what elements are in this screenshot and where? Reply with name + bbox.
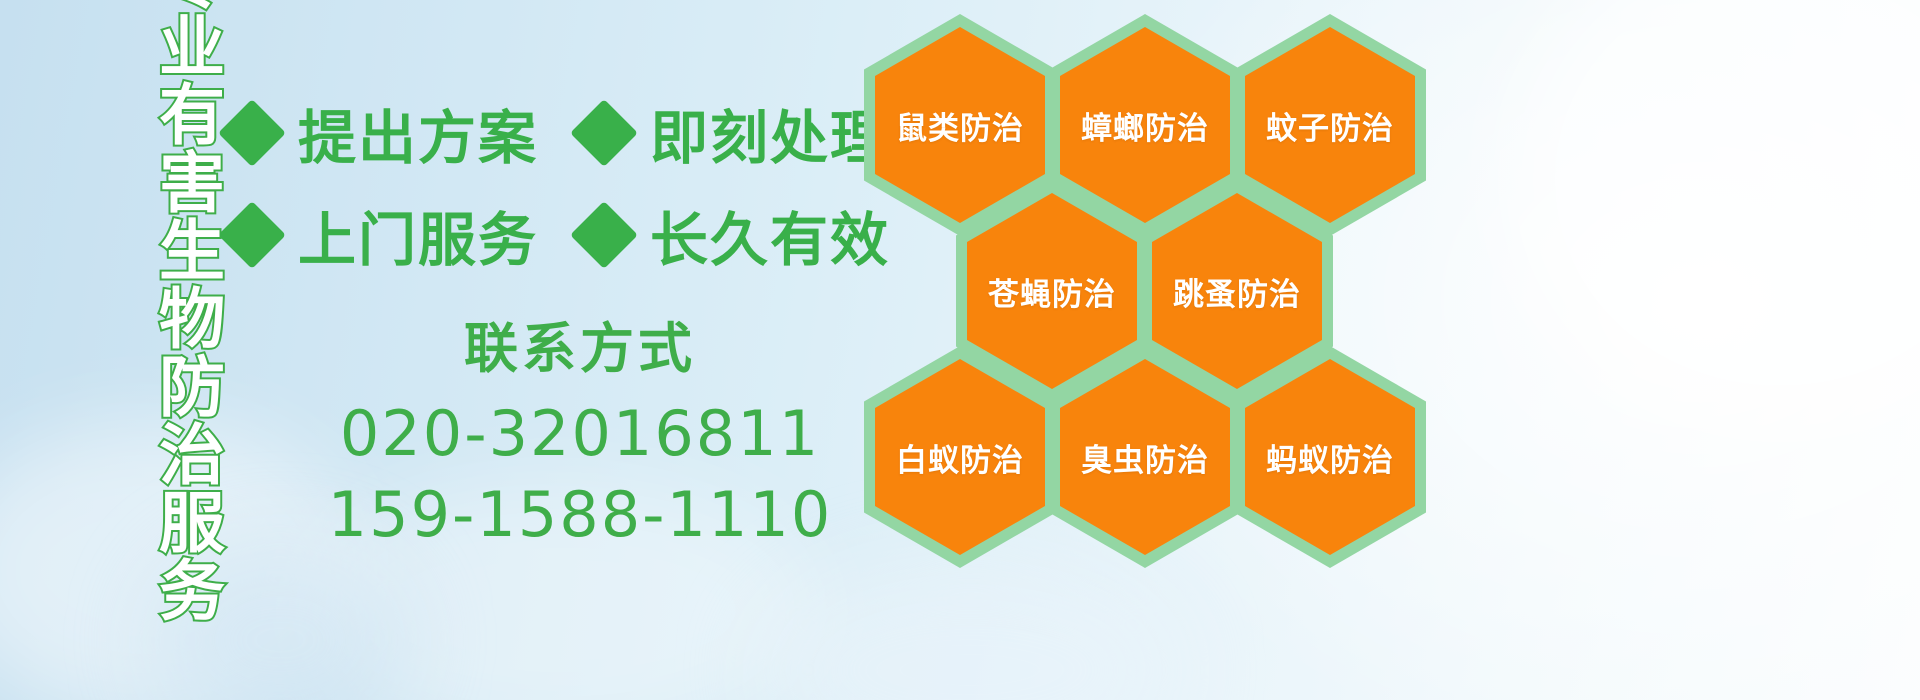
hex-label: 蟑螂防治 — [1081, 103, 1209, 148]
hex-inner: 鼠类防治 — [875, 27, 1045, 223]
feature-item-immediate-handling: 即刻处理 — [580, 91, 890, 175]
phone-number-mobile[interactable]: 159-1588-1110 — [290, 475, 870, 556]
hex-inner: 蚊子防治 — [1245, 27, 1415, 223]
feature-item-long-lasting: 长久有效 — [580, 193, 890, 277]
hex-inner: 白蚁防治 — [875, 359, 1045, 555]
feature-row: 上门服务 长久有效 — [228, 184, 868, 286]
feature-item-propose-plan: 提出方案 — [228, 91, 538, 175]
feature-label: 上门服务 — [298, 193, 538, 277]
hex-inner: 蟑螂防治 — [1060, 27, 1230, 223]
hex-label: 蚂蚁防治 — [1266, 435, 1394, 480]
hex-label: 苍蝇防治 — [988, 269, 1116, 314]
hex-inner: 蚂蚁防治 — [1245, 359, 1415, 555]
service-honeycomb: 鼠类防治 蟑螂防治 蚊子防治 苍蝇防治 跳蚤防治 白蚁防治 — [856, 0, 1476, 700]
feature-row: 提出方案 即刻处理 — [228, 82, 868, 184]
phone-number-landline[interactable]: 020-32016811 — [290, 394, 870, 475]
hex-inner: 跳蚤防治 — [1152, 193, 1322, 389]
feature-label: 即刻处理 — [650, 91, 890, 175]
promo-banner: 专业有害生物防治服务 提出方案 即刻处理 上门服务 长久有效 联系方式 0 — [0, 0, 1920, 700]
background-blur-blob — [1500, 0, 1920, 440]
hex-inner: 苍蝇防治 — [967, 193, 1137, 389]
hex-label: 鼠类防治 — [896, 103, 1024, 148]
diamond-icon — [570, 99, 638, 167]
hex-label: 跳蚤防治 — [1173, 269, 1301, 314]
hex-inner: 臭虫防治 — [1060, 359, 1230, 555]
feature-label: 长久有效 — [650, 193, 890, 277]
hex-label: 白蚁防治 — [896, 435, 1024, 480]
feature-item-onsite-service: 上门服务 — [228, 193, 538, 277]
feature-label: 提出方案 — [298, 91, 538, 175]
hex-label: 蚊子防治 — [1266, 103, 1394, 148]
vertical-company-title: 专业有害生物防治服务 — [104, 14, 220, 554]
contact-block: 联系方式 020-32016811 159-1588-1110 — [290, 318, 870, 555]
diamond-icon — [218, 99, 286, 167]
contact-title: 联系方式 — [290, 318, 870, 380]
feature-list: 提出方案 即刻处理 上门服务 长久有效 — [228, 82, 868, 286]
diamond-icon — [218, 201, 286, 269]
hex-label: 臭虫防治 — [1081, 435, 1209, 480]
diamond-icon — [570, 201, 638, 269]
